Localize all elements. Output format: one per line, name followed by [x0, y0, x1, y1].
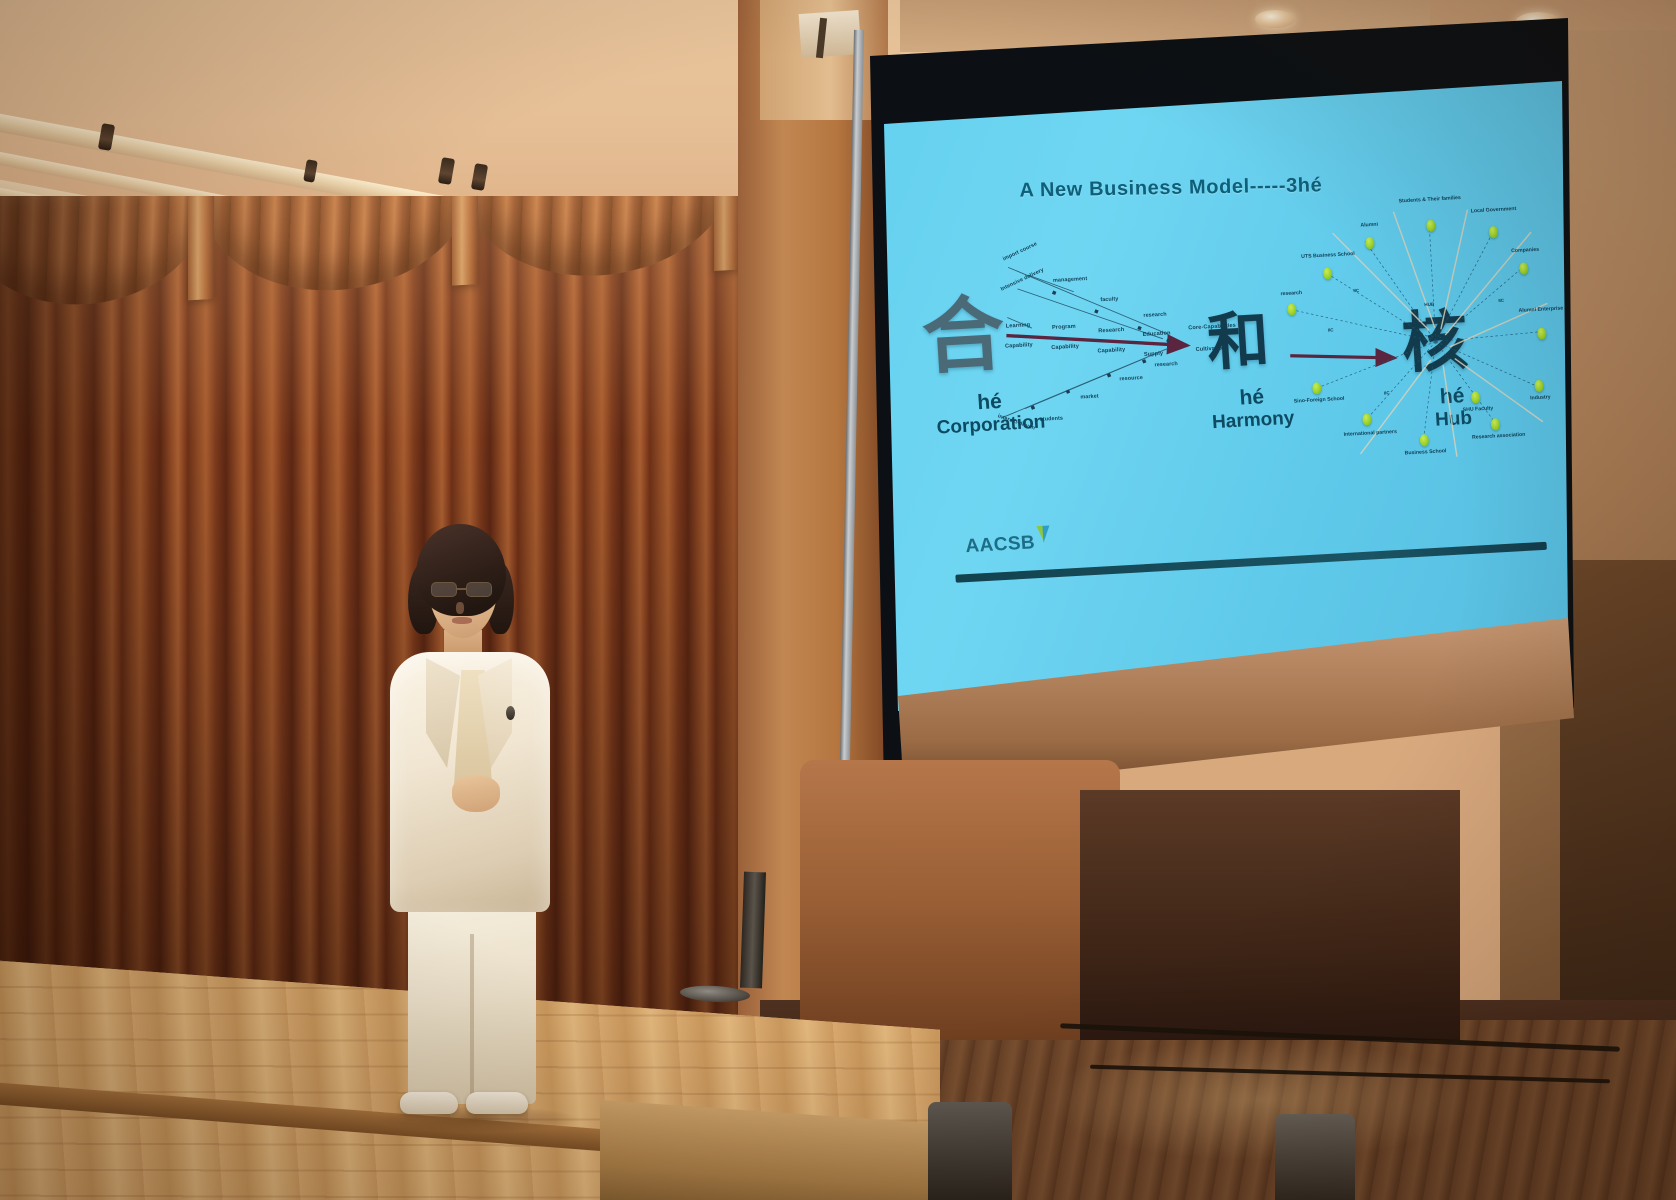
presenter-shoe	[466, 1092, 528, 1114]
hub-node-label: Industry	[1511, 394, 1569, 403]
hub-node-label: Business School	[1392, 449, 1458, 459]
presenter-mouth	[452, 617, 472, 624]
hub-node-label: Alumni Enterprise	[1508, 306, 1574, 316]
presentation-slide: A New Business Model-----3hé	[884, 40, 1593, 622]
hub-edge-label: IIC	[1321, 327, 1341, 333]
presenter-lapel-mic-icon	[506, 706, 515, 720]
fishbone-lower-label: resource	[1119, 376, 1143, 383]
pillar-base-shadow	[1080, 790, 1460, 1040]
aacsb-wordmark: AACSB	[965, 532, 1036, 558]
hub-node	[1419, 434, 1429, 446]
hub-node-label: Sino-Foreign School	[1283, 396, 1355, 406]
fishbone-upper-label: research	[1143, 313, 1167, 320]
hub-node-label: Students & Their families	[1391, 196, 1469, 206]
hub-node-label: Local Government	[1459, 206, 1527, 216]
fishbone-upper-label: management	[1053, 277, 1088, 285]
hub-node	[1365, 237, 1375, 249]
hub-edge-label: IIC	[1491, 297, 1511, 303]
carpet-light-pool	[1050, 1040, 1470, 1160]
hub-node	[1426, 219, 1436, 231]
presenter-trouser-seam	[470, 934, 474, 1102]
hub-node	[1323, 267, 1333, 279]
presenter-hands	[452, 776, 500, 812]
presentation-scene: A New Business Model-----3hé	[0, 0, 1676, 1200]
fishbone-upper-label: Intensive delivery	[1000, 268, 1045, 293]
label-harmony: hé Harmony	[1196, 383, 1309, 434]
hub-node	[1537, 327, 1547, 339]
label-corporation: hé Corporation	[914, 386, 1067, 439]
hub-edge-label: IIC	[1377, 390, 1397, 396]
glyph-harmony: 和	[1205, 309, 1271, 374]
fishbone-lower-label: research	[1154, 362, 1178, 369]
screen-mount-bracket	[799, 10, 862, 58]
hub-node-label: International partners	[1329, 429, 1411, 440]
chair	[928, 1102, 1012, 1200]
hub-node-label: UTS Business School	[1276, 251, 1380, 263]
hub-edge-label: IIC	[1346, 287, 1366, 293]
aacsb-flag-icon	[1036, 525, 1051, 544]
glyph-corporation: 合	[920, 294, 1007, 380]
fishbone-upper-label: faculty	[1100, 297, 1118, 304]
fishbone-lower-label: market	[1080, 395, 1099, 402]
presenter-shoe	[400, 1092, 458, 1114]
hub-node	[1489, 226, 1499, 238]
pillar-base	[800, 760, 1120, 1040]
glasses-icon	[430, 582, 496, 597]
fishbone-spine-label: Capability	[1051, 344, 1079, 352]
right-wall-shadow	[1560, 560, 1676, 1040]
chair	[1275, 1114, 1355, 1200]
fishbone-upper-label: import course	[1002, 242, 1038, 263]
fishbone-spine-label: Program	[1052, 324, 1076, 331]
aacsb-logo: AACSB	[965, 531, 1052, 558]
fishbone-spine-label: Education	[1142, 330, 1170, 338]
fishbone-spine-label: Capability	[1097, 347, 1125, 355]
hub-node	[1519, 262, 1529, 274]
floor-stand	[740, 872, 766, 989]
fishbone-spine-label: Capability	[1005, 342, 1033, 350]
ceiling-downlight-icon	[1255, 10, 1295, 28]
hub-node	[1534, 380, 1544, 392]
fishbone-spine-label: Supply	[1144, 351, 1164, 358]
hub-node	[1312, 382, 1322, 394]
hub-node-label: research	[1256, 290, 1326, 300]
hub-node	[1491, 418, 1501, 430]
fishbone-spine-label: Learning	[1006, 322, 1031, 329]
presenter-nose	[456, 602, 464, 614]
hub-node-label: Companies	[1494, 247, 1556, 256]
presenter	[360, 520, 590, 1110]
glyph-hub: 核	[1400, 308, 1470, 378]
hub-node	[1287, 303, 1297, 315]
fishbone-spine-label: Research	[1098, 327, 1124, 335]
hub-node-label: Alumni	[1338, 221, 1400, 230]
hub-node	[1362, 413, 1372, 425]
hub-node-label: Research association	[1462, 432, 1536, 442]
